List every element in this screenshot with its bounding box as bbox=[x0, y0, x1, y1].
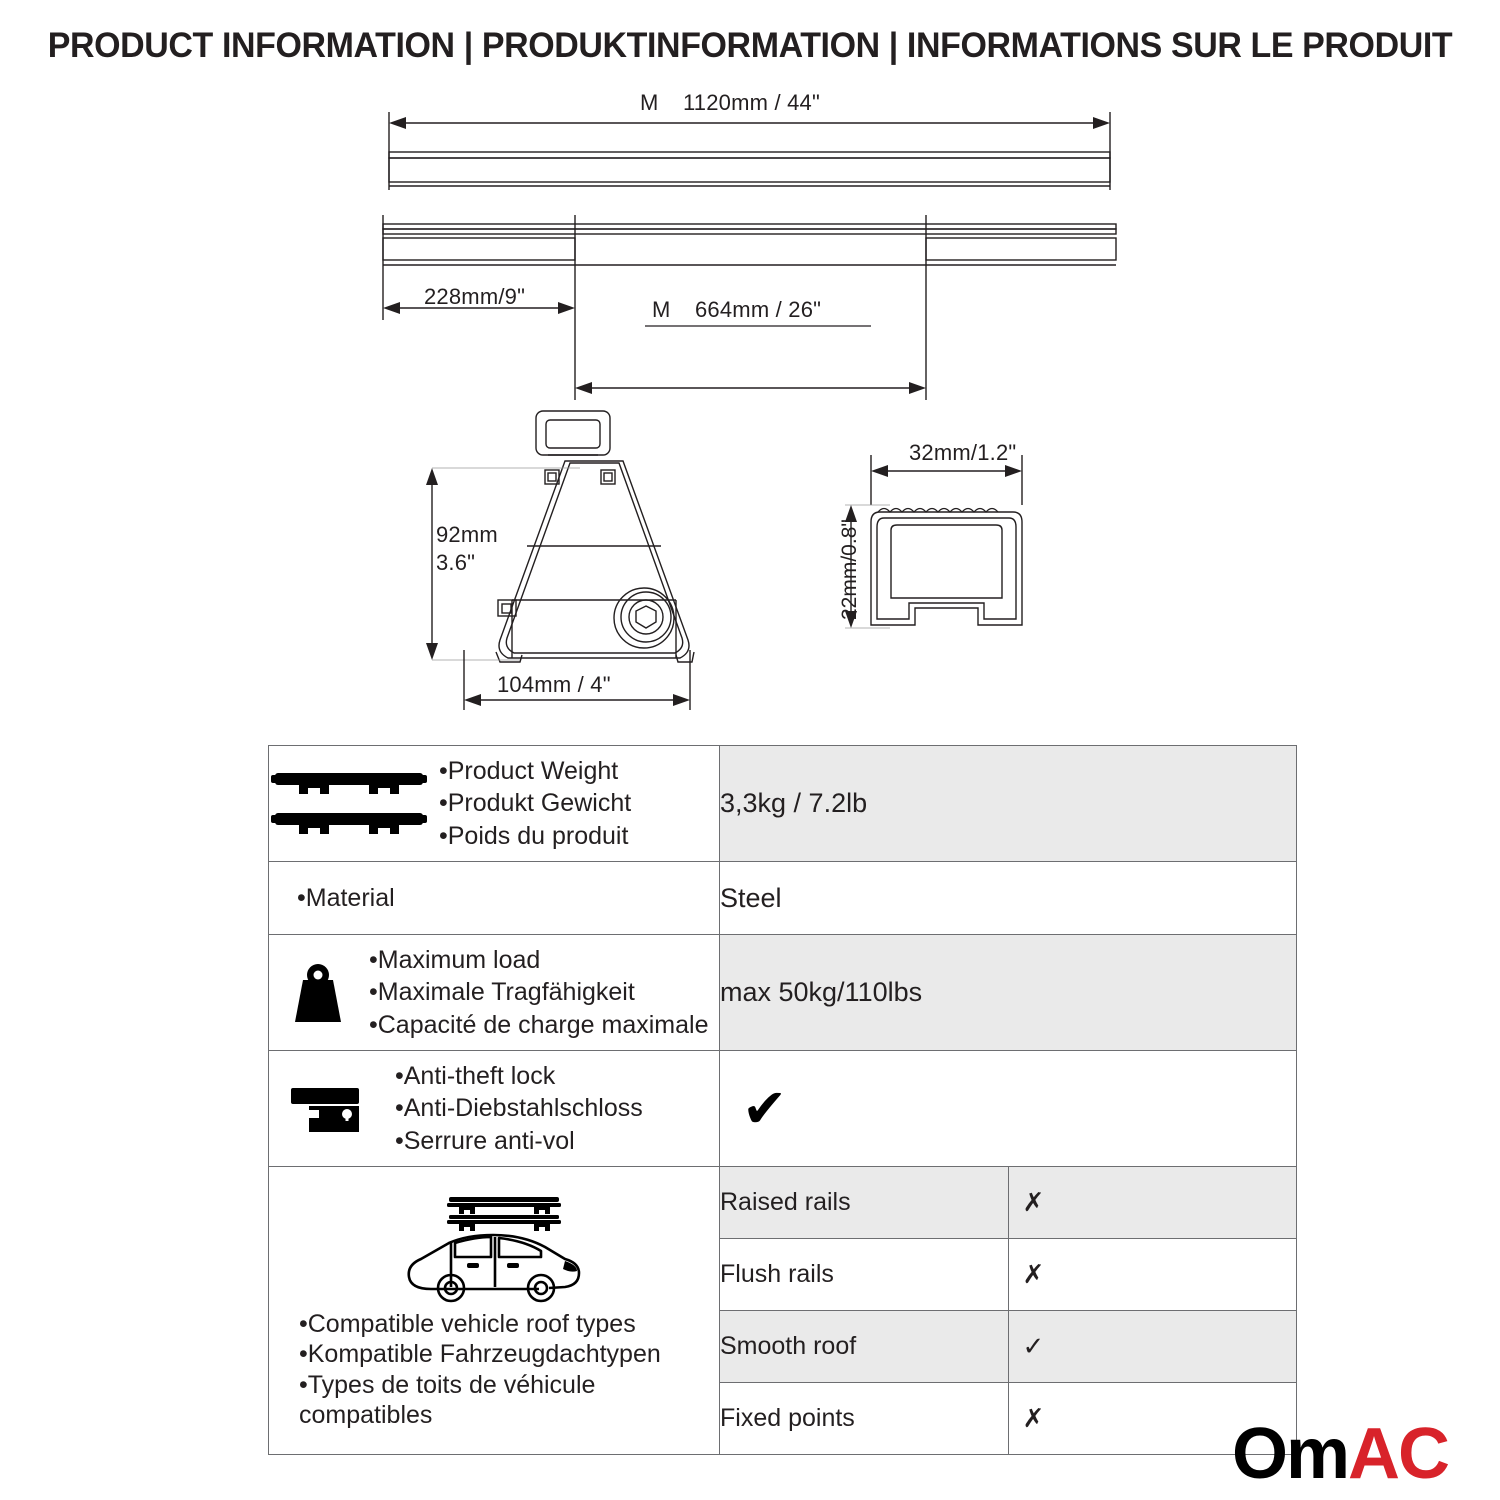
label-line: •Types de toits de véhicule bbox=[299, 1371, 595, 1399]
label-line: •Capacité de charge maximale bbox=[369, 1009, 708, 1042]
max-load-value: max 50kg/110lbs bbox=[720, 935, 1297, 1051]
label-line: •Produkt Gewicht bbox=[439, 787, 631, 820]
anti-theft-labels: •Anti-theft lock •Anti-Diebstahlschloss … bbox=[389, 1060, 643, 1158]
label-line: compatibles bbox=[299, 1401, 432, 1429]
foot-height-line2: 3.6" bbox=[436, 550, 475, 576]
roof-type-name: Fixed points bbox=[720, 1383, 1009, 1455]
product-weight-value: 3,3kg / 7.2lb bbox=[720, 746, 1297, 862]
label-line: •Material bbox=[297, 882, 395, 915]
weight-icon bbox=[269, 958, 353, 1028]
table-row: •Maximum load •Maximale Tragfähigkeit •C… bbox=[269, 935, 1297, 1051]
roof-type-name: Flush rails bbox=[720, 1239, 1009, 1311]
label-line: •Anti-Diebstahlschloss bbox=[395, 1092, 643, 1125]
table-row: •Compatible vehicle roof types •Kompatib… bbox=[269, 1167, 1297, 1239]
label-line: •Poids du produit bbox=[439, 820, 631, 853]
roof-bars-icon bbox=[269, 765, 429, 843]
roof-type-name: Raised rails bbox=[720, 1167, 1009, 1239]
specification-table: •Product Weight •Produkt Gewicht •Poids … bbox=[268, 745, 1297, 1455]
anti-theft-check-icon: ✔ bbox=[720, 1082, 1296, 1136]
compatibility-labels: •Compatible vehicle roof types •Kompatib… bbox=[269, 1309, 719, 1431]
technical-drawings: M 1120mm / 44" bbox=[0, 0, 1500, 740]
lock-icon bbox=[269, 1078, 373, 1140]
material-labels: •Material bbox=[269, 882, 395, 915]
material-label-cell: •Material bbox=[269, 862, 720, 935]
label-line: •Serrure anti-vol bbox=[395, 1125, 643, 1158]
material-value: Steel bbox=[720, 862, 1297, 935]
span-prefix: M bbox=[652, 297, 671, 323]
anti-theft-label-cell: •Anti-theft lock •Anti-Diebstahlschloss … bbox=[269, 1051, 720, 1167]
roof-type-value-cell: ✗ bbox=[1008, 1167, 1297, 1239]
span-value: 664mm / 26" bbox=[695, 297, 821, 323]
label-line: •Compatible vehicle roof types bbox=[299, 1310, 636, 1338]
label-line: •Maximale Tragfähigkeit bbox=[369, 976, 708, 1009]
anti-theft-value-cell: ✔ bbox=[720, 1051, 1297, 1167]
cross-icon: ✗ bbox=[1009, 1190, 1297, 1216]
label-line: •Anti-theft lock bbox=[395, 1060, 643, 1093]
end-offset-label: 228mm/9" bbox=[424, 284, 525, 310]
check-icon: ✓ bbox=[1009, 1334, 1297, 1360]
drawing-svg bbox=[0, 0, 1500, 740]
product-weight-label-cell: •Product Weight •Produkt Gewicht •Poids … bbox=[269, 746, 720, 862]
label-line: •Product Weight bbox=[439, 755, 631, 788]
car-with-rack-icon bbox=[269, 1191, 719, 1309]
profile-height-label: 22mm/0.8" bbox=[838, 519, 862, 620]
product-weight-labels: •Product Weight •Produkt Gewicht •Poids … bbox=[439, 755, 631, 853]
label-line: •Maximum load bbox=[369, 944, 708, 977]
logo-text-black: Om bbox=[1232, 1418, 1348, 1490]
compatibility-label-cell: •Compatible vehicle roof types •Kompatib… bbox=[269, 1167, 720, 1455]
logo-text-red: AC bbox=[1348, 1418, 1448, 1490]
max-load-labels: •Maximum load •Maximale Tragfähigkeit •C… bbox=[369, 944, 708, 1042]
label-line: •Kompatible Fahrzeugdachtypen bbox=[299, 1340, 661, 1368]
table-row: •Material Steel bbox=[269, 862, 1297, 935]
foot-width-label: 104mm / 4" bbox=[497, 672, 611, 698]
roof-type-name: Smooth roof bbox=[720, 1311, 1009, 1383]
profile-width-label: 32mm/1.2" bbox=[909, 440, 1016, 466]
omac-logo: OmAC bbox=[1232, 1418, 1448, 1490]
roof-type-value-cell: ✗ bbox=[1008, 1239, 1297, 1311]
table-row: •Product Weight •Produkt Gewicht •Poids … bbox=[269, 746, 1297, 862]
foot-height-line1: 92mm bbox=[436, 522, 498, 548]
table-row: •Anti-theft lock •Anti-Diebstahlschloss … bbox=[269, 1051, 1297, 1167]
roof-type-value-cell: ✓ bbox=[1008, 1311, 1297, 1383]
max-load-label-cell: •Maximum load •Maximale Tragfähigkeit •C… bbox=[269, 935, 720, 1051]
cross-icon: ✗ bbox=[1009, 1262, 1297, 1288]
